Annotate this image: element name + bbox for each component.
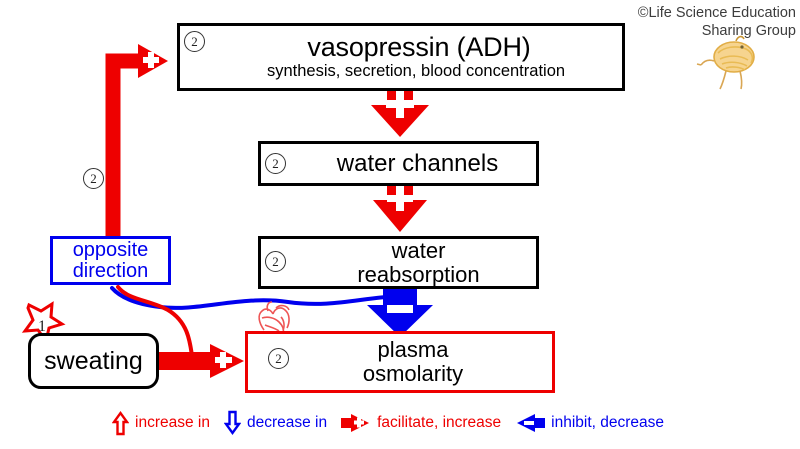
- step-badge-plasma-osmolarity: 2: [268, 348, 289, 369]
- water-channels-label: water channels: [337, 150, 498, 178]
- step-badge-water-channels: 2: [265, 153, 286, 174]
- diagram-canvas: vasopressin (ADH) synthesis, secretion, …: [0, 0, 800, 449]
- opposite-direction-line1: opposite: [73, 240, 149, 261]
- legend-label-facilitate: facilitate, increase: [377, 414, 501, 432]
- step-badge-vasopressin: 2: [184, 31, 205, 52]
- step-badge-sweating: 1: [38, 318, 46, 336]
- legend-label-increase: increase in: [135, 414, 210, 432]
- water-reabsorption-line2: reabsorption: [357, 263, 479, 286]
- left-block-arrow-icon: [515, 412, 545, 434]
- legend-item-increase: increase in: [112, 410, 210, 436]
- plasma-osmolarity-line2: osmolarity: [363, 362, 463, 386]
- heart-icon: [259, 302, 289, 333]
- legend: increase in decrease in facilitate, incr…: [112, 409, 678, 437]
- plasma-osmolarity-line1: plasma: [363, 338, 463, 362]
- connector-sweating-to-plasma: [156, 344, 244, 378]
- opposite-direction-line2: direction: [73, 261, 149, 282]
- legend-label-decrease: decrease in: [247, 414, 327, 432]
- vasopressin-subtitle: synthesis, secretion, blood concentratio…: [267, 63, 565, 80]
- legend-item-decrease: decrease in: [224, 410, 327, 436]
- node-vasopressin[interactable]: vasopressin (ADH) synthesis, secretion, …: [177, 23, 625, 91]
- up-arrow-outline-icon: [112, 410, 129, 436]
- sweating-label: sweating: [44, 347, 143, 376]
- step-badge-opposite-pathway: 2: [83, 168, 104, 189]
- opposite-direction-label: opposite direction: [73, 240, 149, 281]
- plus-arrowhead-opposite: [138, 44, 168, 78]
- right-block-arrow-icon: [341, 412, 371, 434]
- node-water-reabsorption[interactable]: water reabsorption: [258, 236, 539, 289]
- step-badge-water-reabsorption: 2: [265, 251, 286, 272]
- node-water-channels[interactable]: water channels: [258, 141, 539, 186]
- legend-item-inhibit: inhibit, decrease: [515, 412, 664, 434]
- connector-vasopressin-to-water-channels: [371, 90, 429, 137]
- legend-label-inhibit: inhibit, decrease: [551, 414, 664, 432]
- connector-water-channels-to-reabsorption: [373, 186, 427, 232]
- plasma-osmolarity-label: plasma osmolarity: [363, 338, 463, 386]
- node-sweating[interactable]: sweating: [28, 333, 159, 389]
- node-plasma-osmolarity[interactable]: plasma osmolarity: [245, 331, 555, 393]
- vasopressin-title: vasopressin (ADH): [307, 34, 530, 62]
- connector-opposite-to-vasopressin: [113, 44, 168, 238]
- down-arrow-outline-icon: [224, 410, 241, 436]
- water-reabsorption-line1: water: [357, 239, 479, 262]
- water-reabsorption-label: water reabsorption: [357, 239, 479, 285]
- legend-item-facilitate: facilitate, increase: [341, 412, 501, 434]
- node-opposite-direction[interactable]: opposite direction: [50, 236, 171, 285]
